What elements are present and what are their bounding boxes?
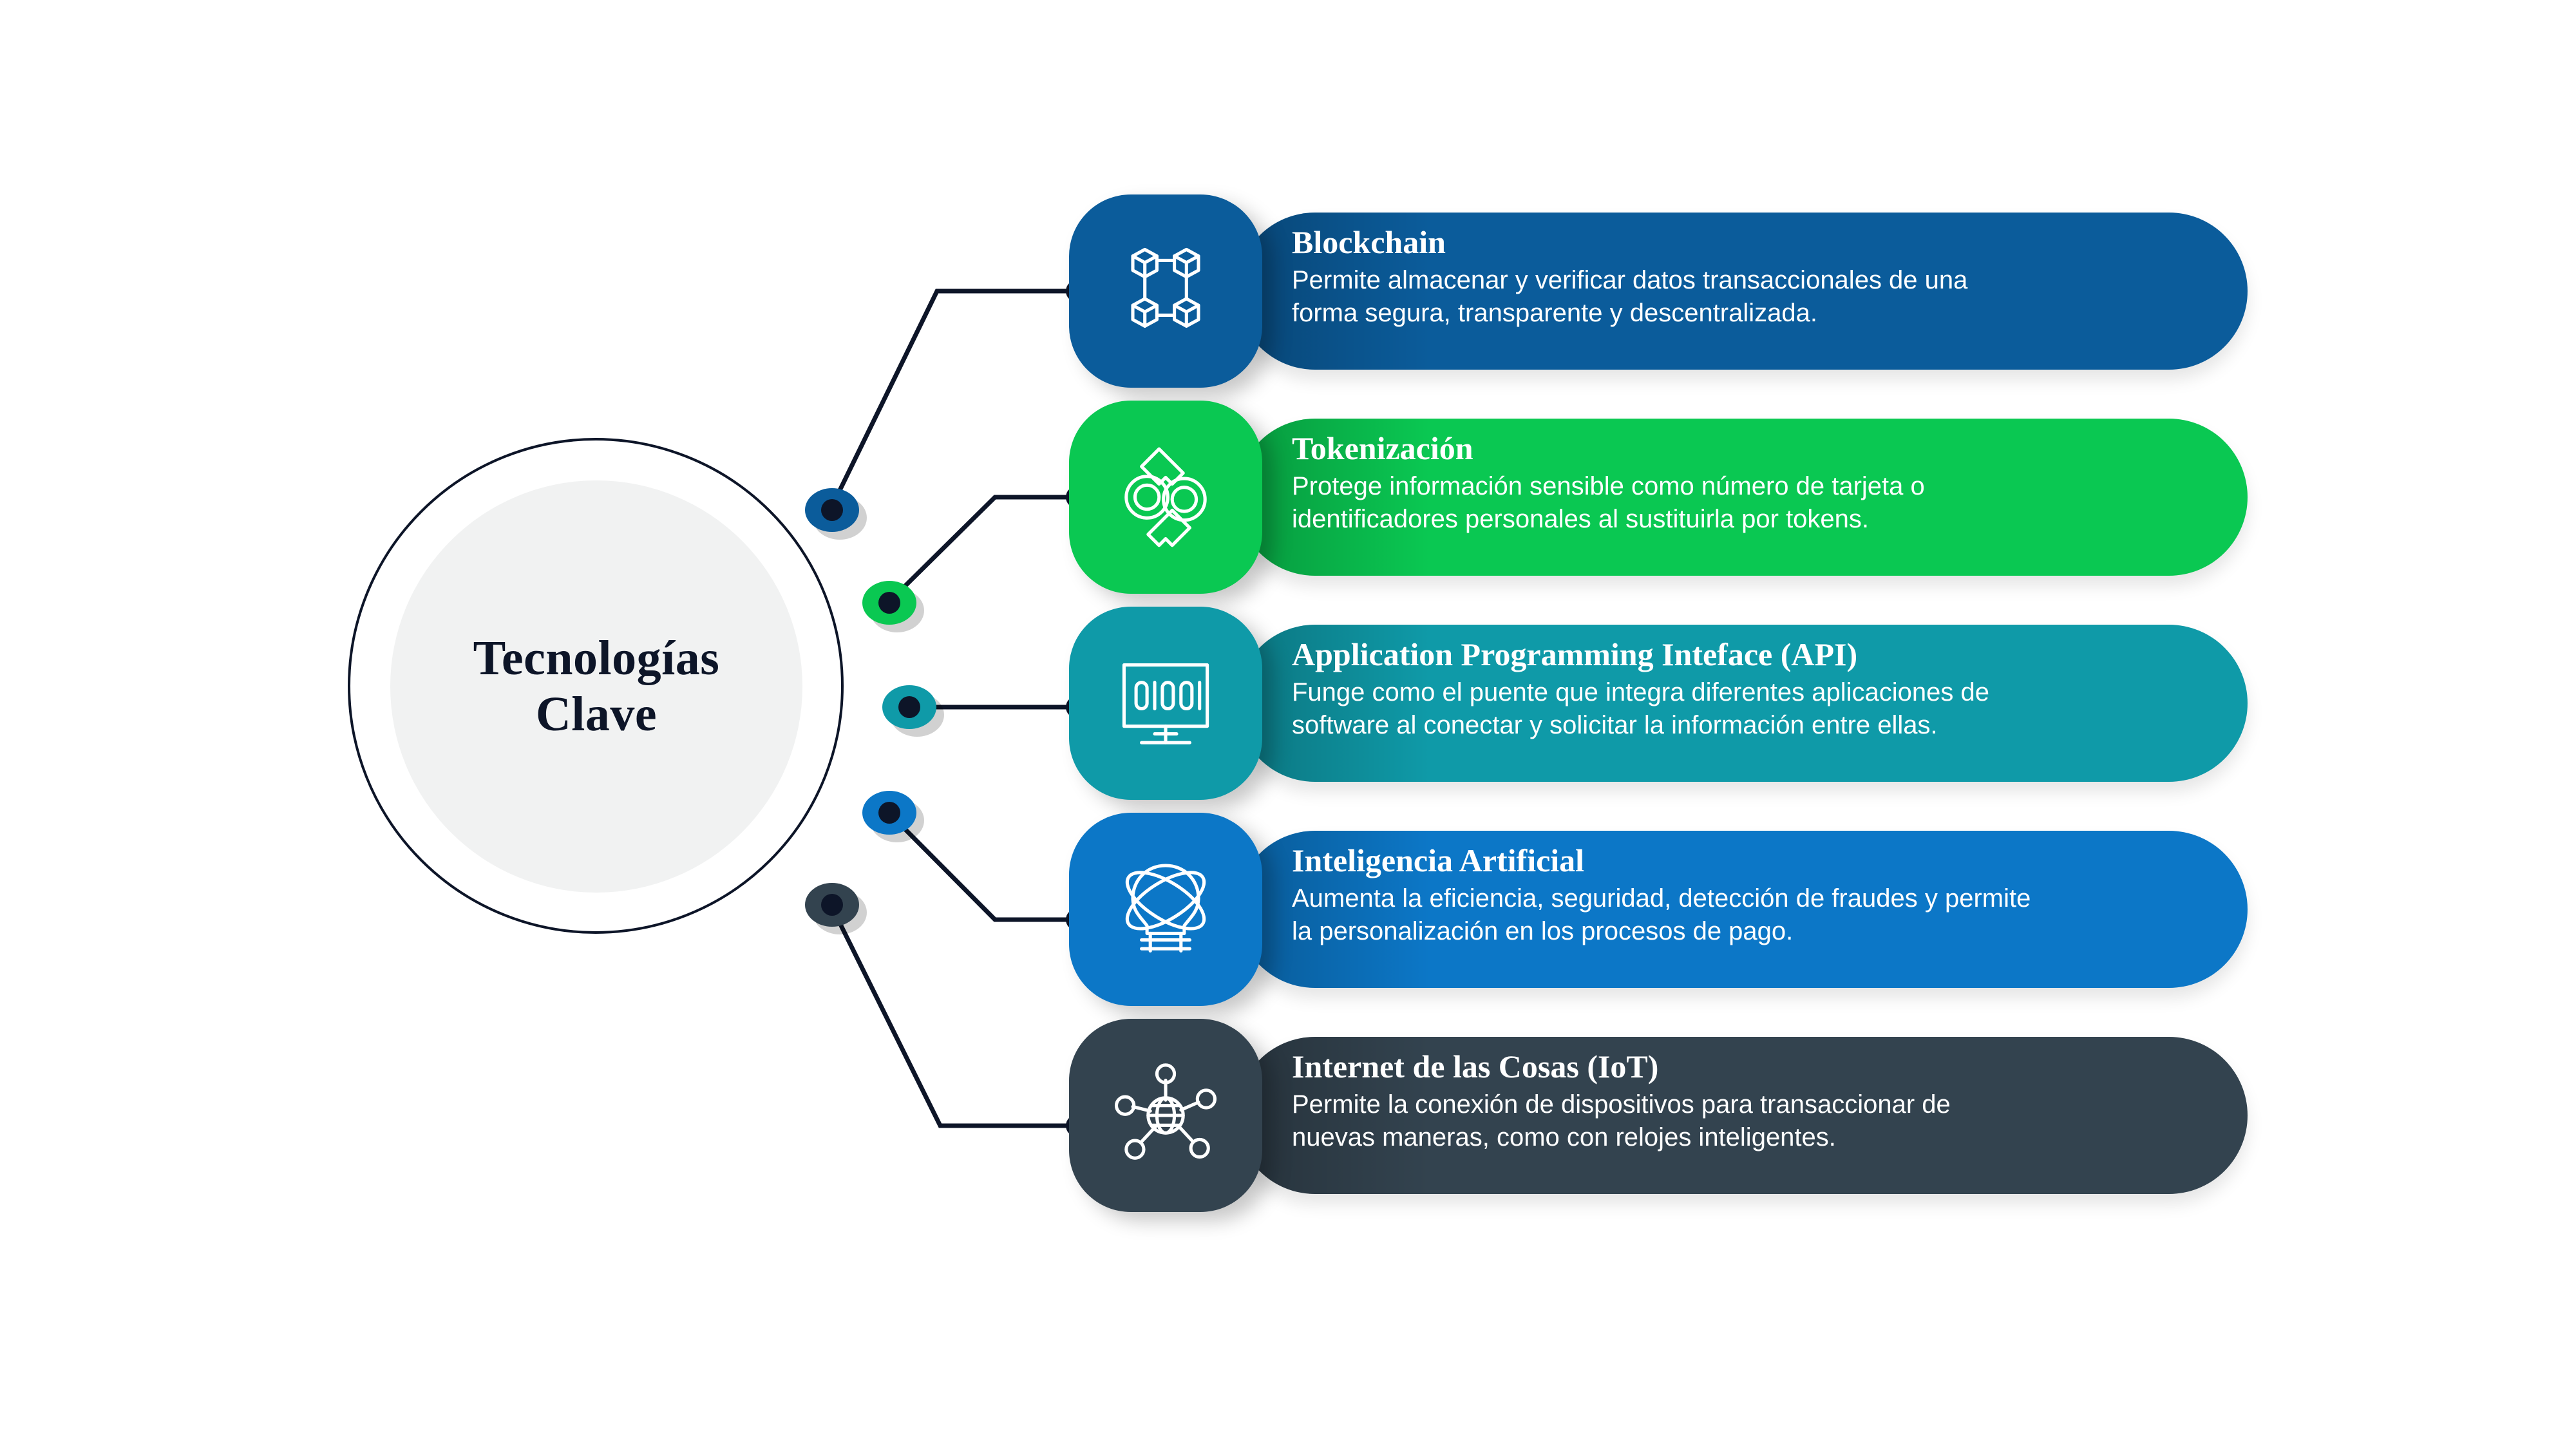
card-text-api: Application Programming Inteface (API) F… [1292, 636, 2213, 742]
center-hub: Tecnologías Clave [348, 438, 850, 940]
card-title: Blockchain [1292, 224, 2213, 260]
item-row-tokenizacion[interactable]: Tokenización Protege información sensibl… [1069, 401, 2248, 594]
icon-tile-iot [1069, 1019, 1262, 1212]
card-title: Application Programming Inteface (API) [1292, 636, 2213, 672]
icon-tile-blockchain [1069, 194, 1262, 388]
card-title: Inteligencia Artificial [1292, 842, 2213, 878]
hub-title: Tecnologías Clave [390, 480, 802, 893]
card-description: Funge como el puente que integra diferen… [1292, 676, 2213, 742]
ai-lightbulb-atom-icon [1111, 855, 1220, 964]
item-row-inteligencia-artificial[interactable]: Inteligencia Artificial Aumenta la efici… [1069, 813, 2248, 1006]
node-dot-tokenizacion [862, 581, 916, 625]
card-text-tokenizacion: Tokenización Protege información sensibl… [1292, 430, 2213, 536]
card-description: Protege información sensible como número… [1292, 470, 2213, 536]
blockchain-cubes-icon [1111, 236, 1220, 346]
item-row-api[interactable]: Application Programming Inteface (API) F… [1069, 607, 2248, 800]
item-row-blockchain[interactable]: Blockchain Permite almacenar y verificar… [1069, 194, 2248, 388]
iot-globe-network-icon [1111, 1061, 1220, 1170]
card-text-inteligencia-artificial: Inteligencia Artificial Aumenta la efici… [1292, 842, 2213, 948]
card-text-blockchain: Blockchain Permite almacenar y verificar… [1292, 224, 2213, 330]
node-dot-ia [862, 791, 916, 835]
icon-tile-inteligencia-artificial [1069, 813, 1262, 1006]
card-title: Tokenización [1292, 430, 2213, 466]
node-dot-api [882, 685, 936, 729]
item-row-iot[interactable]: Internet de las Cosas (IoT) Permite la c… [1069, 1019, 2248, 1212]
card-description: Permite almacenar y verificar datos tran… [1292, 264, 2213, 330]
tokenization-coins-icon [1111, 442, 1220, 552]
api-monitor-binary-icon [1111, 649, 1220, 758]
card-description: Permite la conexión de dispositivos para… [1292, 1088, 2213, 1154]
icon-tile-api [1069, 607, 1262, 800]
icon-tile-tokenizacion [1069, 401, 1262, 594]
card-title: Internet de las Cosas (IoT) [1292, 1048, 2213, 1084]
card-description: Aumenta la eficiencia, seguridad, detecc… [1292, 882, 2213, 948]
card-text-iot: Internet de las Cosas (IoT) Permite la c… [1292, 1048, 2213, 1154]
infographic-canvas: Tecnologías Clave [0, 0, 2576, 1449]
